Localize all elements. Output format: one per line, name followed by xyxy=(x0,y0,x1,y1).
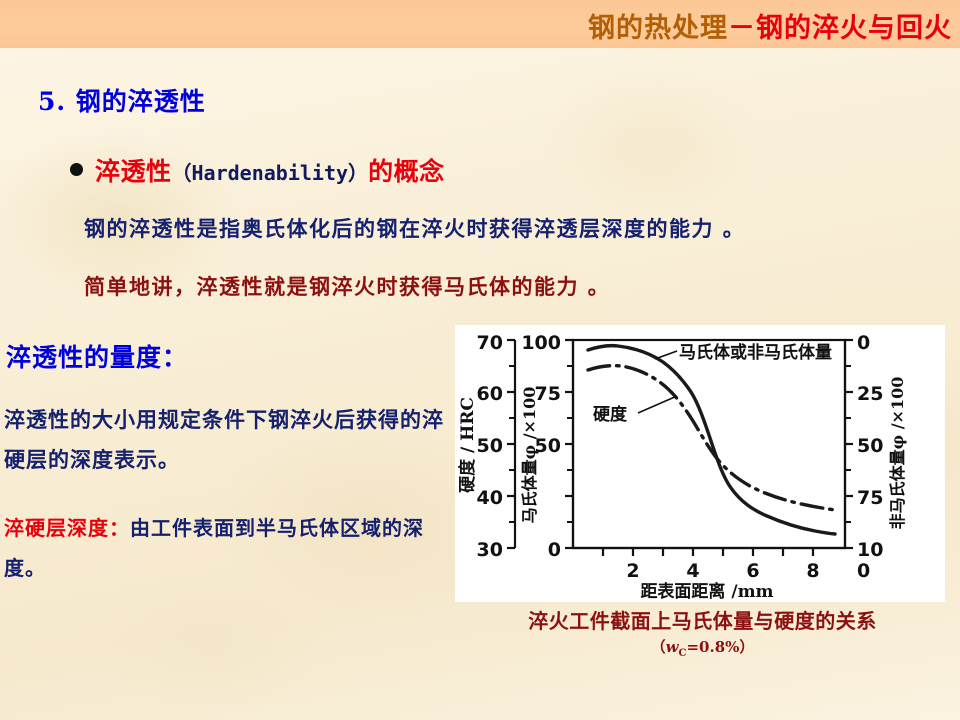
annotation-martensite-label: 马氏体或非马氏体量 xyxy=(679,342,832,363)
axis-non-martensite-tick-50: 50 xyxy=(857,435,883,457)
header-bar: 钢的热处理－钢的淬火与回火 xyxy=(0,0,960,48)
paragraph-definition: 钢的淬透性是指奥氏体化后的钢在淬火时获得淬透层深度的能力 。 xyxy=(84,213,745,243)
axis-distance-tick-6: 6 xyxy=(746,560,759,582)
axis-distance: 2 4 6 8 距表面距离 /mm xyxy=(573,548,845,602)
axis-distance-label: 距表面距离 /mm xyxy=(640,581,773,602)
measure-definition-label: 淬硬层深度： xyxy=(4,516,130,540)
paragraph-simple-definition: 简单地讲，淬透性就是钢淬火时获得马氏体的能力 。 xyxy=(84,271,610,301)
axis-martensite-tick-0: 0 xyxy=(548,539,561,561)
measure-heading: 淬透性的量度： xyxy=(6,338,188,374)
chart-caption-line1: 淬火工件截面上马氏体量与硬度的关系 xyxy=(455,608,950,634)
axis-non-martensite: 0 25 50 75 10 0 非马氏体量φ /×100 xyxy=(845,332,907,582)
caption-symbol-w: w xyxy=(666,638,679,656)
bullet-suffix: 的概念 xyxy=(368,157,445,186)
annotation-hardness-label: 硬度 xyxy=(593,404,628,425)
plot-frame xyxy=(573,340,845,548)
page-title-topic: 钢的热处理 xyxy=(588,13,728,44)
axis-non-martensite-label: 非马氏体量φ /×100 xyxy=(888,377,907,530)
hardenability-chart: 30 40 50 60 70 硬度 / HRC 0 50 75 100 马氏体量… xyxy=(455,325,945,602)
axis-non-martensite-tick-100-wrap: 0 xyxy=(857,560,870,582)
axis-non-martensite-tick-100: 10 xyxy=(857,539,883,561)
axis-martensite-tick-100: 100 xyxy=(521,332,561,354)
axis-non-martensite-tick-25: 25 xyxy=(857,383,883,405)
axis-distance-tick-4: 4 xyxy=(686,560,699,582)
axis-martensite: 0 50 75 100 马氏体量φ /×100 xyxy=(520,332,573,561)
axis-hardness-tick-60: 60 xyxy=(477,383,503,405)
caption-paren-open: （ xyxy=(651,638,666,656)
axis-hardness: 30 40 50 60 70 硬度 / HRC xyxy=(457,332,515,561)
axis-hardness-tick-30: 30 xyxy=(477,539,503,561)
axis-non-martensite-tick-0: 0 xyxy=(857,332,870,354)
axis-martensite-label: 马氏体量φ /×100 xyxy=(520,387,539,524)
annotation-martensite: 马氏体或非马氏体量 xyxy=(655,342,832,363)
axis-hardness-tick-40: 40 xyxy=(477,487,503,509)
axis-distance-tick-8: 8 xyxy=(806,560,819,582)
bullet-english-term: （Hardenability） xyxy=(172,161,369,185)
bullet-dot-icon xyxy=(70,163,83,176)
series-martensite-line xyxy=(588,346,835,534)
measure-body-text: 淬透性的大小用规定条件下钢淬火后获得的淬硬层的深度表示。 xyxy=(4,400,454,480)
axis-hardness-tick-50: 50 xyxy=(477,435,503,457)
bullet-term: 淬透性 xyxy=(95,157,172,186)
axis-non-martensite-tick-75: 75 xyxy=(857,487,883,509)
measure-definition: 淬硬层深度：由工件表面到半马氏体区域的深度。 xyxy=(4,508,459,588)
caption-value: =0.8% xyxy=(686,638,739,656)
page-title-subtopic: －钢的淬火与回火 xyxy=(728,13,952,44)
axis-hardness-label: 硬度 / HRC xyxy=(457,397,478,493)
axis-distance-tick-2: 2 xyxy=(626,560,639,582)
bullet-line: 淬透性（Hardenability）的概念 xyxy=(70,152,445,188)
chart-caption-line2: （wC=0.8%） xyxy=(455,634,950,667)
chart-caption: 淬火工件截面上马氏体量与硬度的关系 （wC=0.8%） xyxy=(455,608,950,667)
axis-hardness-tick-70: 70 xyxy=(477,332,503,354)
chart-panel: 30 40 50 60 70 硬度 / HRC 0 50 75 100 马氏体量… xyxy=(455,325,945,602)
caption-paren-close: ） xyxy=(739,638,754,656)
page-title: 钢的热处理－钢的淬火与回火 xyxy=(588,6,952,45)
section-heading: 5. 钢的淬透性 xyxy=(38,82,206,118)
annotation-hardness: 硬度 xyxy=(593,396,677,425)
